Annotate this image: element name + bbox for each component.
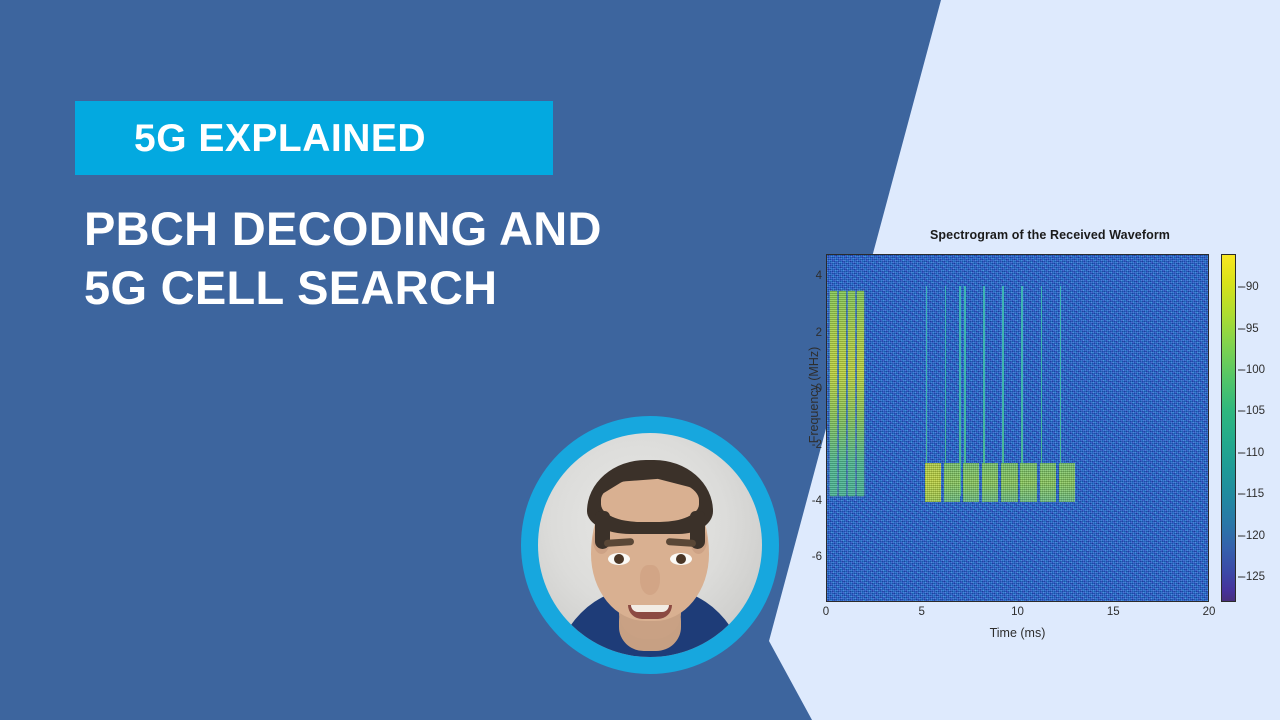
colorbar-tick-mark — [1238, 535, 1243, 536]
kicker-label: 5G EXPLAINED — [134, 119, 426, 158]
data-allocation-block — [1001, 463, 1017, 502]
avatar-eye-left — [608, 553, 630, 565]
ssb-burst-block — [857, 291, 864, 496]
y-axis-label: Frequency (MHz) — [807, 325, 821, 465]
ssb-burst-block — [830, 291, 837, 496]
x-axis-ticks: 05101520 — [826, 606, 1209, 622]
headline-line-2: 5G CELL SEARCH — [84, 258, 744, 317]
colorbar-tick-mark — [1238, 577, 1243, 578]
x-tick-label: 5 — [919, 606, 925, 618]
colorbar-tick-label: -110 — [1242, 447, 1264, 459]
data-allocation-block — [982, 463, 998, 502]
spectrogram-figure: Spectrogram of the Received Waveform 420… — [800, 228, 1266, 646]
headline-line-1: PBCH DECODING AND — [84, 199, 744, 258]
slide-canvas: 5G EXPLAINED PBCH DECODING AND 5G CELL S… — [0, 0, 1280, 720]
ssb-burst-block — [839, 291, 846, 496]
colorbar-tick-label: -105 — [1242, 405, 1265, 417]
avatar-photo — [538, 433, 762, 657]
x-tick-label: 0 — [823, 606, 829, 618]
colorbar-tick-mark — [1238, 411, 1243, 412]
colorbar-tick-label: -125 — [1242, 571, 1265, 583]
colorbar-tick-label: -100 — [1242, 364, 1265, 376]
x-tick-label: 10 — [1011, 606, 1024, 618]
colorbar-tick-label: -90 — [1242, 281, 1259, 293]
colorbar-tick-mark — [1238, 287, 1243, 288]
data-allocation-block — [1020, 463, 1036, 502]
x-tick-label: 15 — [1107, 606, 1120, 618]
colorbar-tick-mark — [1238, 452, 1243, 453]
colorbar-ticks: -90-95-100-105-110-115-120-125 — [1238, 254, 1278, 602]
colorbar-tick-label: -120 — [1242, 530, 1265, 542]
data-allocation-block — [944, 463, 960, 502]
chart-title: Spectrogram of the Received Waveform — [860, 228, 1240, 242]
data-allocation-block — [925, 463, 941, 502]
colorbar-tick-label: -115 — [1242, 488, 1264, 500]
spectrogram-plot-area — [826, 254, 1209, 602]
avatar-nose — [640, 565, 660, 595]
avatar-eye-right — [670, 553, 692, 565]
ssb-burst-block — [848, 291, 855, 496]
data-allocation-block — [963, 463, 979, 502]
colorbar-tick-mark — [1238, 328, 1243, 329]
data-allocation-block — [1059, 463, 1075, 502]
y-tick-label: -6 — [812, 551, 822, 563]
y-tick-label: -4 — [812, 495, 822, 507]
kicker-badge: 5G EXPLAINED — [75, 101, 553, 175]
y-tick-label: 4 — [816, 270, 822, 282]
colorbar-tick-label: -95 — [1242, 323, 1259, 335]
avatar — [521, 416, 779, 674]
data-allocation-block — [1040, 463, 1056, 502]
noise-floor-layer — [827, 255, 1208, 601]
colorbar-tick-mark — [1238, 370, 1243, 371]
colorbar-tick-mark — [1238, 494, 1243, 495]
page-title: PBCH DECODING AND 5G CELL SEARCH — [84, 199, 744, 317]
x-axis-label: Time (ms) — [826, 626, 1209, 640]
x-tick-label: 20 — [1203, 606, 1216, 618]
colorbar — [1221, 254, 1236, 602]
